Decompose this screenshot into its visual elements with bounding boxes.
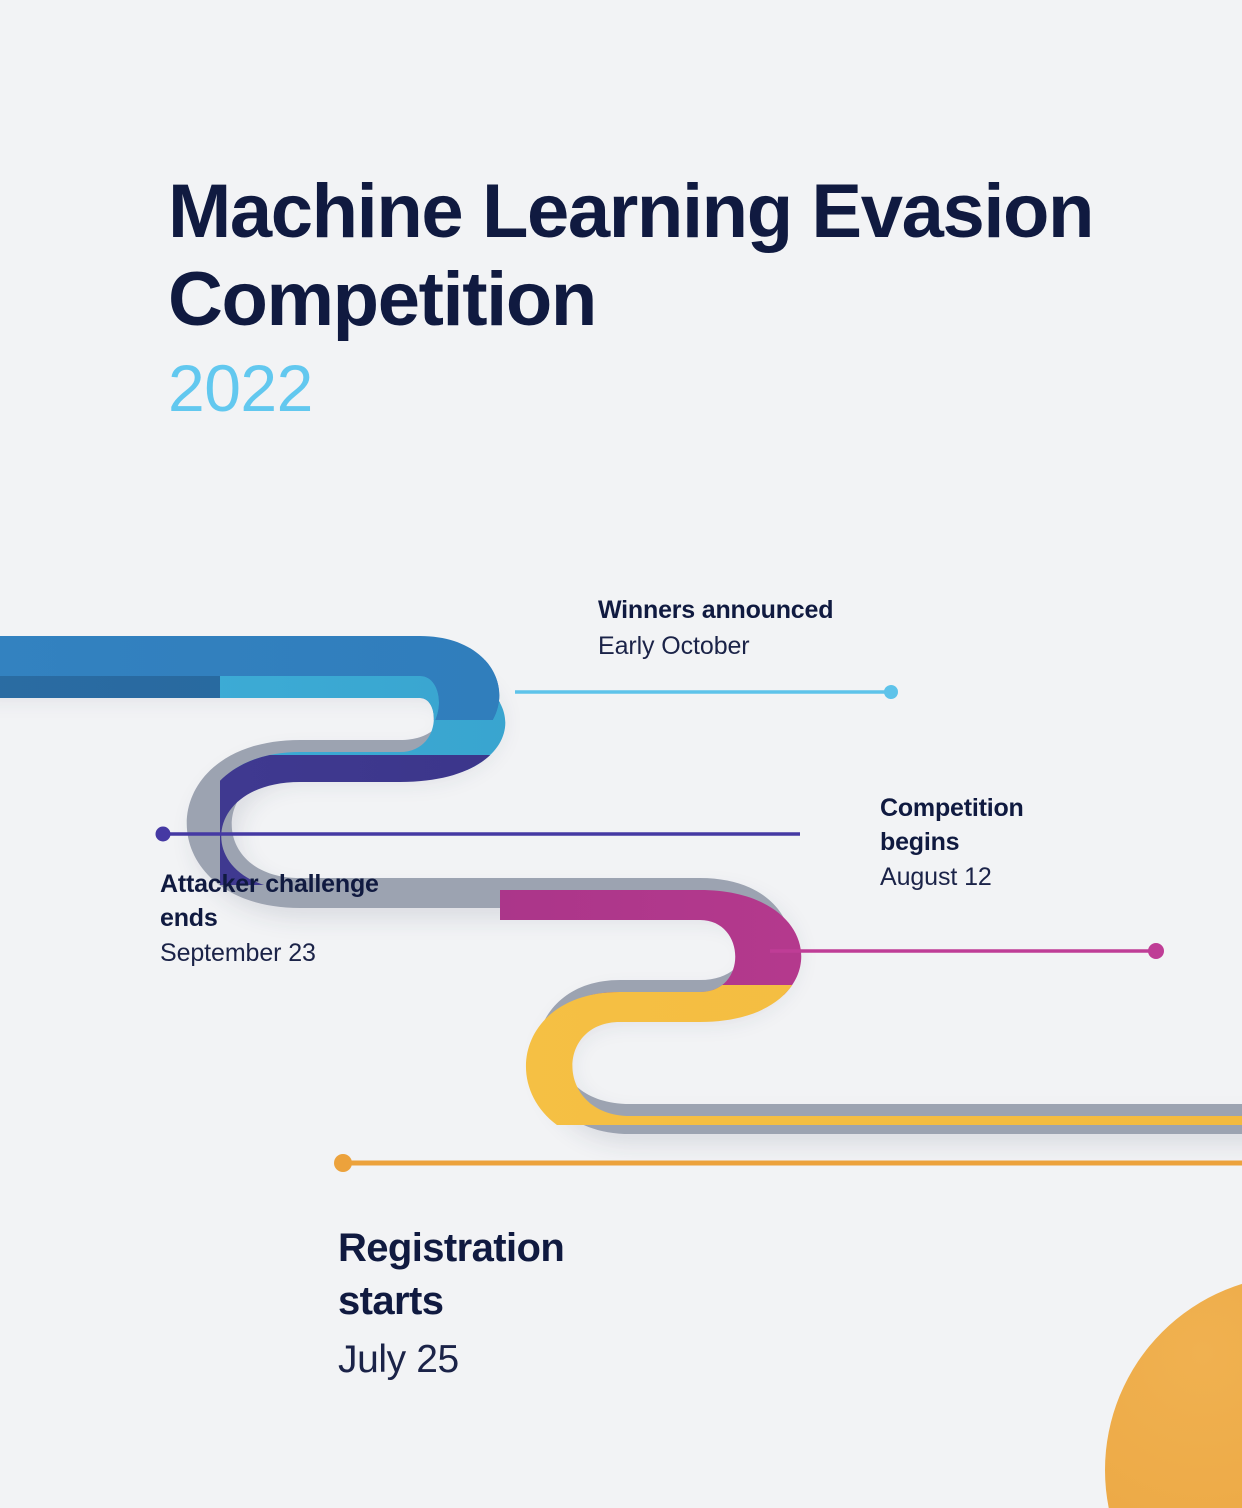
title-line-1: Machine Learning Evasion <box>168 168 1128 256</box>
milestone-title-line-1: Registration <box>338 1222 808 1275</box>
connector-register <box>334 1154 1242 1172</box>
connector-dot-attacker <box>156 827 171 842</box>
connector-dot-begins <box>1148 943 1164 959</box>
infographic-poster: Machine Learning Evasion Competition 202… <box>0 0 1242 1508</box>
milestone-date: Early October <box>598 630 1028 664</box>
milestone-title-line-2: begins <box>880 826 1210 860</box>
milestone-attacker-challenge-ends: Attacker challenge ends September 23 <box>160 868 560 971</box>
milestone-title-line-1: Competition <box>880 792 1210 826</box>
title-line-2: Competition <box>168 256 1128 344</box>
milestone-title: Winners announced <box>598 594 1028 628</box>
corner-decoration-circle <box>1105 1275 1242 1508</box>
milestone-date: July 25 <box>338 1334 808 1385</box>
connector-dot-winners <box>884 685 898 699</box>
connector-attacker <box>156 827 801 842</box>
connector-dot-register <box>334 1154 352 1172</box>
milestone-title-line-2: ends <box>160 902 560 936</box>
milestone-registration-starts: Registration starts July 25 <box>338 1222 808 1385</box>
milestone-winners-announced: Winners announced Early October <box>598 594 1028 663</box>
milestone-title-line-2: starts <box>338 1275 808 1328</box>
connector-begins <box>770 943 1164 959</box>
milestone-title-line-1: Attacker challenge <box>160 868 560 902</box>
milestone-competition-begins: Competition begins August 12 <box>880 792 1210 895</box>
connector-winners <box>515 685 898 699</box>
milestone-date: September 23 <box>160 937 560 971</box>
year-label: 2022 <box>168 350 1128 428</box>
milestone-date: August 12 <box>880 861 1210 895</box>
page-title: Machine Learning Evasion Competition 202… <box>168 168 1128 428</box>
